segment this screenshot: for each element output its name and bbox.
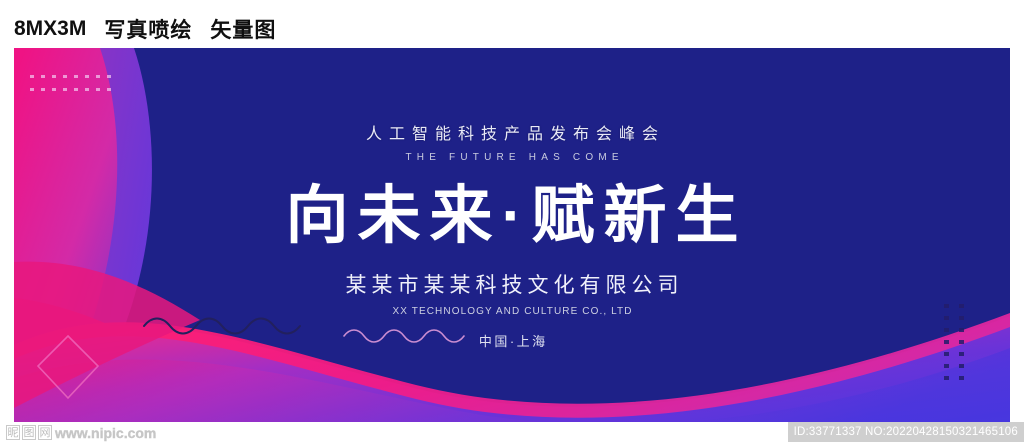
image-id-badge: ID:33771337 NO:20220428150321465106 <box>788 422 1024 442</box>
caption-size-label: 8MX3M <box>14 17 86 41</box>
caption-format-label: 矢量图 <box>210 14 276 44</box>
site-logo-char-3: 网 <box>38 425 52 440</box>
banner-artwork: 人工智能科技产品发布会峰会 THE FUTURE HAS COME 向未来·赋新… <box>14 48 1010 422</box>
watermark-strip: 昵 图 网 www.nipic.com ID:33771337 NO:20220… <box>0 422 1024 443</box>
caption-bar: 8MX3M 写真喷绘 矢量图 <box>14 14 614 44</box>
site-logo-mark: 昵 图 网 <box>6 425 52 440</box>
site-logo-char-1: 昵 <box>6 425 20 440</box>
site-url-text: www.nipic.com <box>55 425 156 441</box>
banner-background-graphics <box>14 48 1010 422</box>
poster-preview-page: 8MX3M 写真喷绘 矢量图 <box>0 0 1024 443</box>
site-watermark-logo: 昵 图 网 www.nipic.com <box>6 424 156 441</box>
site-logo-char-2: 图 <box>22 425 36 440</box>
caption-type-label: 写真喷绘 <box>104 14 192 44</box>
